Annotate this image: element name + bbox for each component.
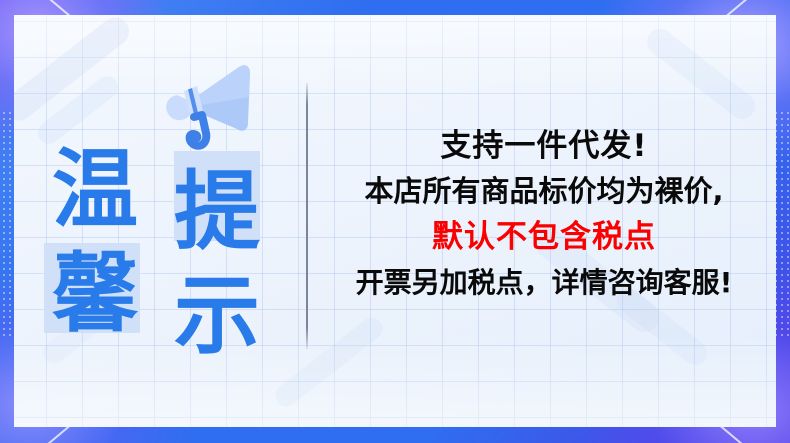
notice-line-1: 支持一件代发! bbox=[326, 123, 762, 169]
notice-line-2: 本店所有商品标价均为裸价, bbox=[326, 169, 762, 214]
promo-banner: 温 提 馨 示 支持一件代发! 本店所有商品标价均为裸价, 默认不包含税点 开票… bbox=[0, 0, 790, 443]
right-panel: 支持一件代发! 本店所有商品标价均为裸价, 默认不包含税点 开票另加税点，详情咨… bbox=[326, 123, 762, 306]
headline-characters: 温 提 馨 示 bbox=[52, 147, 292, 401]
megaphone-icon bbox=[144, 57, 264, 153]
vertical-divider bbox=[306, 83, 308, 349]
left-panel: 温 提 馨 示 bbox=[48, 51, 292, 407]
banner-card: 温 提 馨 示 支持一件代发! 本店所有商品标价均为裸价, 默认不包含税点 开票… bbox=[14, 15, 776, 427]
headline-char-ti: 提 bbox=[174, 169, 260, 255]
notice-line-3-highlight: 默认不包含税点 bbox=[326, 214, 762, 260]
headline-char-wen: 温 bbox=[52, 147, 138, 233]
headline-char-xin: 馨 bbox=[52, 251, 138, 337]
notice-line-4: 开票另加税点，详情咨询客服! bbox=[326, 260, 762, 306]
headline-char-shi: 示 bbox=[174, 273, 260, 359]
